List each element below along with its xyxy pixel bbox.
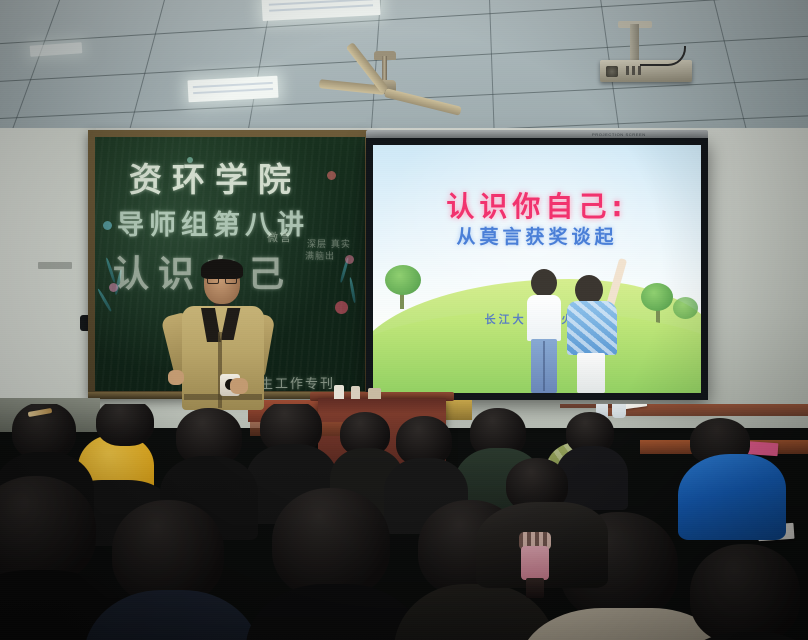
presenter-left-hand [168,370,184,385]
audience [0,404,808,640]
projector-lens [606,66,618,77]
podium-cup-2 [351,386,360,399]
water-bottle [612,404,626,418]
student-desk [560,404,620,408]
chalk-flower [335,301,348,314]
fluorescent-panel-top [261,0,380,21]
projector-bracket [630,24,639,62]
ceiling-fan [330,56,500,118]
presenter-right-hand [230,378,248,394]
blackboard-note-1: 微言 [267,229,293,245]
blackboard-note-3: 满脑出 [305,249,335,262]
ceiling-projector [600,40,698,86]
blackboard-line-1: 资环学院 [129,153,301,201]
glasses-icon [225,276,237,284]
slide-figure-white-shirt [525,269,565,393]
slide-subtitle: 从莫言获奖谈起 [373,222,701,249]
podium-box [368,388,381,399]
fluorescent-panel-left [30,42,83,57]
fan-rod [382,56,387,82]
classroom-photo: 资环学院 导师组第八讲 认识自己 微言 深层 真实 满脑出 学院学生工作专刊 P… [0,0,808,640]
podium-cup [334,385,344,399]
presenter [168,262,276,410]
blue-jacket [678,454,786,540]
fluorescent-panel-mid [187,76,278,103]
wall-sign [38,262,72,269]
screen-brand-label: PROJECTION SCREEN [592,132,646,137]
slide-figure-blue-pattern [565,257,621,393]
chalk-flower [103,221,112,230]
glasses-icon [207,276,219,284]
fan-blade [384,88,462,116]
slide-title: 认识你自己: [373,185,701,225]
chalk-flower [345,255,354,264]
pink-thermos [518,532,552,598]
projection-screen: 认识你自己: 从莫言获奖谈起 长江大学 郭火明 [366,138,708,400]
presentation-slide: 认识你自己: 从莫言获奖谈起 长江大学 郭火明 [373,145,701,393]
slide-tree-left [383,265,423,307]
left-wall [0,128,96,428]
ceiling [0,0,808,140]
chalk-flower [327,171,336,180]
